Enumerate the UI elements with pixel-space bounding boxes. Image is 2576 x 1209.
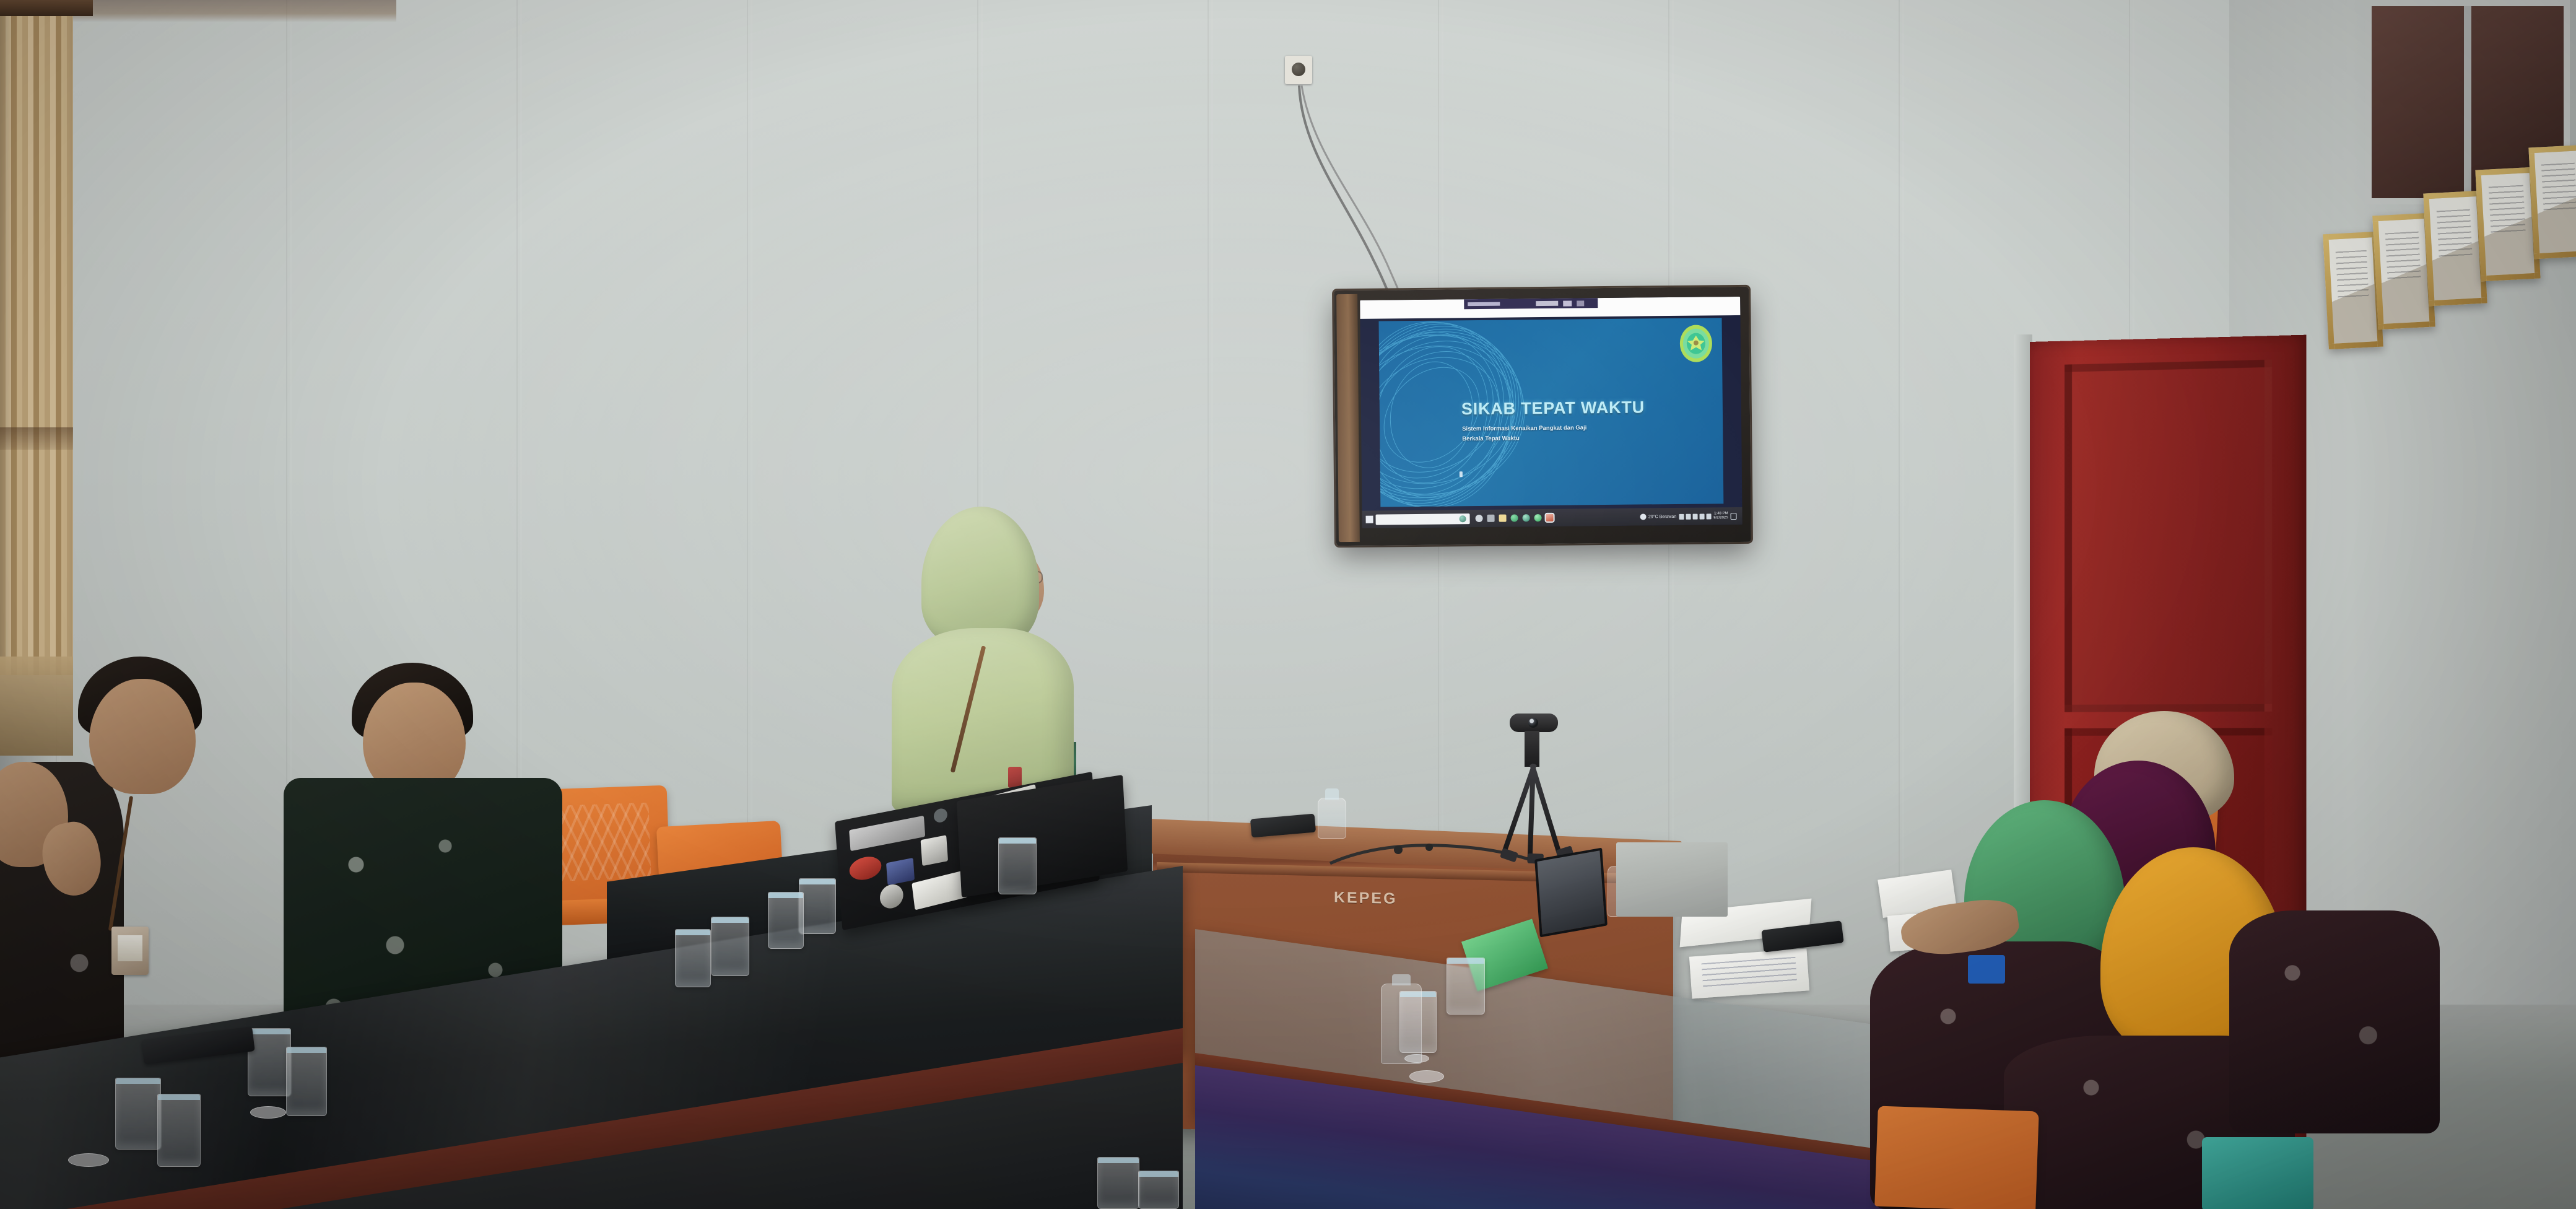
ribbon-tab-design[interactable]: [1577, 300, 1584, 306]
presenter-id-badge: [1008, 767, 1022, 788]
coaster: [250, 1106, 286, 1119]
battery-icon[interactable]: [1706, 513, 1711, 519]
mouse-cursor: [1460, 471, 1463, 477]
water-glass: [768, 892, 804, 949]
water-glass: [1097, 1157, 1139, 1209]
tripod-neck: [1525, 731, 1539, 767]
taskbar-clock[interactable]: 1:48 PM 9/2/2025: [1713, 512, 1728, 520]
chevron-up-icon[interactable]: [1679, 513, 1684, 519]
task-view-icon[interactable]: [1487, 515, 1495, 522]
ribbon-tab-insert[interactable]: [1563, 301, 1572, 307]
podium-label: KEPEG: [1334, 889, 1398, 908]
widgets-icon[interactable]: [1476, 515, 1483, 522]
water-bottle: [1318, 798, 1346, 839]
laptop-sticker: [849, 816, 925, 851]
presenter-person: [887, 507, 1091, 804]
cloud-icon: [1640, 513, 1647, 520]
window-mullion: [2464, 6, 2471, 198]
water-glass: [248, 1028, 291, 1096]
presentation-slide: SIKAB TEPAT WAKTU Sistem Informasi Kenai…: [1379, 318, 1724, 507]
meeting-room-photo: SIKAB TEPAT WAKTU Sistem Informasi Kenai…: [0, 0, 2576, 1209]
weather-text: 29°C Berawan: [1648, 514, 1676, 518]
audience-far-right: [2229, 910, 2440, 1133]
camera-lens: [1528, 718, 1538, 728]
powerpoint-toolbar: [1360, 297, 1740, 319]
search-globe-icon: [1460, 515, 1466, 522]
water-glass: [675, 929, 711, 987]
plug-icon: [1292, 63, 1305, 76]
coaster: [1409, 1070, 1444, 1083]
certificate-text-lines: [2335, 250, 2369, 300]
water-glass: [711, 917, 749, 976]
plastic-chair: [1874, 1106, 2039, 1209]
volume-icon[interactable]: [1699, 513, 1704, 519]
ribbon-tab-file[interactable]: [1468, 302, 1500, 306]
laptop-sticker: [849, 854, 882, 883]
document-text-lines: [1702, 957, 1798, 990]
curtain-rod: [0, 0, 93, 16]
clock-date: 9/2/2025: [1713, 516, 1728, 520]
door-upper-panel: [2065, 360, 2272, 712]
whatsapp-icon[interactable]: [1534, 514, 1542, 522]
coaster: [68, 1153, 109, 1167]
camera-tripod: [1475, 714, 1593, 868]
ribbon-tab-home[interactable]: [1536, 301, 1558, 306]
document-paper: [1689, 948, 1809, 998]
water-glass: [998, 837, 1037, 894]
webcam-icon: [1510, 714, 1558, 732]
tablet-on-stand: [1534, 848, 1608, 938]
laptop-sticker: [933, 808, 947, 824]
water-bottle: [1381, 984, 1422, 1064]
wall-shelf-box: [1616, 842, 1728, 917]
blue-wristband: [1968, 955, 2005, 984]
laptop-sticker: [912, 870, 967, 910]
taskbar-app-icons[interactable]: [1476, 514, 1554, 522]
certificate-text-lines: [2489, 185, 2526, 233]
curtain-tieback: [0, 427, 73, 450]
notification-icon[interactable]: [1731, 512, 1737, 519]
onedrive-icon[interactable]: [1686, 513, 1690, 519]
edge-icon[interactable]: [1523, 514, 1530, 522]
powerpoint-icon[interactable]: [1546, 514, 1554, 522]
water-glass: [1447, 958, 1485, 1015]
weather-widget[interactable]: 29°C Berawan: [1640, 513, 1676, 520]
tray-icons[interactable]: [1679, 513, 1711, 519]
laptop-sticker: [921, 835, 948, 866]
teal-cushion: [2202, 1137, 2313, 1209]
water-glass: [157, 1094, 201, 1167]
powerpoint-ribbon: [1464, 298, 1598, 309]
certificate-text-lines: [2436, 209, 2473, 257]
laptop-sticker: [886, 858, 915, 885]
water-glass: [286, 1047, 327, 1116]
tv-screen: SIKAB TEPAT WAKTU Sistem Informasi Kenai…: [1360, 297, 1743, 528]
window-curtain: [0, 0, 73, 675]
slide-title: SIKAB TEPAT WAKTU: [1461, 398, 1645, 419]
windows-taskbar[interactable]: 29°C Berawan 1:48 PM 9/2/2025: [1362, 507, 1742, 528]
certificate-frame: [2528, 145, 2576, 260]
network-icon[interactable]: [1692, 513, 1697, 519]
laptop-sticker: [879, 883, 904, 910]
kabupaten-emblem-logo: [1679, 324, 1714, 363]
tv-side-trim: [1336, 294, 1360, 542]
wall-mounted-tv: SIKAB TEPAT WAKTU Sistem Informasi Kenai…: [1334, 287, 1751, 546]
search-input[interactable]: [1376, 513, 1470, 525]
slide-subtitle: Sistem Informasi Kenaikan Pangkat dan Ga…: [1462, 423, 1614, 444]
certificate-text-lines: [2541, 163, 2576, 211]
file-explorer-icon[interactable]: [1499, 515, 1507, 522]
water-glass: [799, 878, 836, 934]
chrome-icon[interactable]: [1511, 514, 1518, 522]
start-button-icon[interactable]: [1366, 516, 1373, 523]
certificate-text-lines: [2385, 232, 2421, 281]
power-outlet: [1285, 56, 1312, 84]
water-glass: [1138, 1171, 1179, 1209]
water-glass: [115, 1078, 161, 1150]
slide-subtitle-line2: Berkala Tepat Waktu: [1462, 433, 1614, 444]
id-card: [111, 927, 149, 975]
certificate-frames-group: [2316, 6, 2576, 539]
tripod-foot: [1500, 848, 1518, 863]
taskbar-system-tray[interactable]: 29°C Berawan 1:48 PM 9/2/2025: [1640, 512, 1739, 521]
